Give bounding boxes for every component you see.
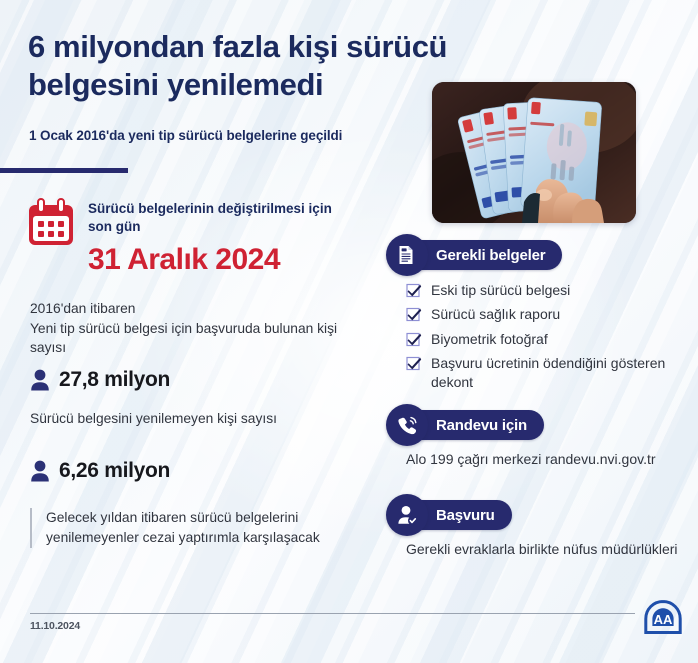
- stat-value-applications: 27,8 milyon: [30, 368, 170, 392]
- section-header-documents: Gerekli belgeler: [392, 240, 562, 270]
- list-item-label: Başvuru ücretinin ödendiğini gösteren de…: [431, 354, 686, 391]
- document-icon: [386, 234, 428, 276]
- stat-label-not-renewed: Sürücü belgesini yenilemeyen kişi sayısı: [30, 409, 350, 429]
- person-check-icon: [386, 494, 428, 536]
- section-title-appointment: Randevu için: [436, 417, 527, 434]
- section-header-appointment: Randevu için: [392, 410, 544, 440]
- svg-text:AA: AA: [654, 612, 673, 627]
- list-item-label: Biyometrik fotoğraf: [431, 330, 548, 348]
- stat-number-applications: 27,8 milyon: [59, 368, 170, 392]
- person-icon: [30, 369, 50, 391]
- stat-number-not-renewed: 6,26 milyon: [59, 459, 170, 483]
- application-text: Gerekli evraklarla birlikte nüfus müdürl…: [406, 540, 681, 560]
- checkbox-icon: [406, 282, 422, 298]
- page-title: 6 milyondan fazla kişi sürücü belgesini …: [28, 28, 458, 104]
- list-item: Biyometrik fotoğraf: [406, 330, 686, 348]
- footer-divider: [30, 613, 635, 614]
- stat-value-not-renewed: 6,26 milyon: [30, 459, 170, 483]
- phone-icon: [386, 404, 428, 446]
- checkbox-icon: [406, 331, 422, 347]
- driving-license-photo: [432, 82, 636, 223]
- checkbox-icon: [406, 306, 422, 322]
- accent-divider: [0, 168, 128, 173]
- list-item-label: Sürücü sağlık raporu: [431, 305, 560, 323]
- deadline-date: 31 Aralık 2024: [88, 243, 280, 277]
- infographic-canvas: 6 milyondan fazla kişi sürücü belgesini …: [0, 0, 698, 663]
- list-item-label: Eski tip sürücü belgesi: [431, 281, 570, 299]
- deadline-label: Sürücü belgelerinin değiştirilmesi için …: [88, 200, 358, 236]
- page-subtitle: 1 Ocak 2016'da yeni tip sürücü belgeleri…: [29, 128, 429, 143]
- section-header-application: Başvuru: [392, 500, 512, 530]
- list-item: Sürücü sağlık raporu: [406, 305, 686, 323]
- list-item: Eski tip sürücü belgesi: [406, 281, 686, 299]
- person-icon: [30, 460, 50, 482]
- list-item: Başvuru ücretinin ödendiğini gösteren de…: [406, 354, 686, 391]
- aa-logo: AA: [643, 600, 683, 634]
- section-title-documents: Gerekli belgeler: [436, 247, 545, 264]
- penalty-note: Gelecek yıldan itibaren sürücü belgeleri…: [30, 508, 330, 548]
- footer-date: 11.10.2024: [30, 620, 80, 632]
- documents-checklist: Eski tip sürücü belgesi Sürücü sağlık ra…: [406, 281, 686, 397]
- appointment-text: Alo 199 çağrı merkezi randevu.nvi.gov.tr: [406, 450, 676, 470]
- calendar-icon: [26, 198, 76, 248]
- checkbox-icon: [406, 355, 422, 371]
- section-title-application: Başvuru: [436, 507, 495, 524]
- stat-label-applications: 2016'dan itibaren Yeni tip sürücü belges…: [30, 299, 350, 358]
